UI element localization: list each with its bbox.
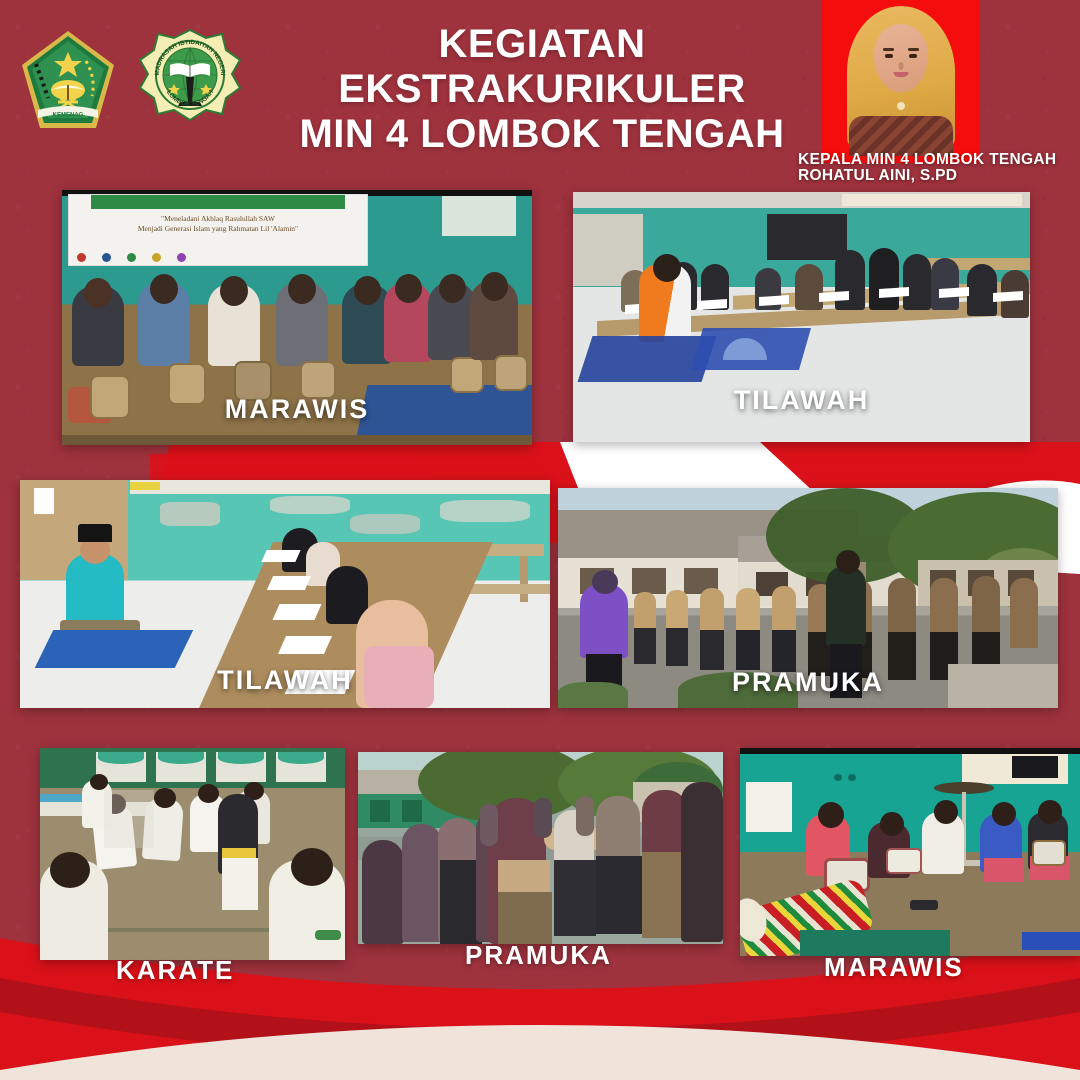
photo-pramuka-bottom[interactable] — [358, 752, 723, 944]
nose-icon — [899, 62, 904, 70]
face — [874, 24, 928, 92]
principal-name: ROHATUL AINI, S.PD — [798, 168, 1080, 184]
wave-label-karate: KARATE — [116, 955, 234, 986]
title-line-1: KEGIATAN — [268, 22, 816, 67]
kemenag-logo: KEMENAG — [18, 28, 118, 134]
title-line-2: EKSTRAKURIKULER — [268, 67, 816, 112]
batik-shirt — [849, 116, 953, 156]
photo-tilawah-mid[interactable]: TILAWAH — [20, 480, 550, 708]
principal-portrait — [822, 0, 980, 163]
wave-label-pramuka: PRAMUKA — [465, 940, 612, 971]
photo-label: TILAWAH — [20, 665, 550, 696]
madrasah-logo: MADRASAH IBTIDAIYAH NEGERI LOMBOK TENGAH — [136, 28, 244, 136]
instructor-purple — [580, 584, 628, 658]
banner-line-1: "Meneladani Akhlaq Rasulullah SAW — [75, 214, 361, 224]
brooch-icon — [897, 102, 905, 110]
photo-pramuka-mid[interactable]: PRAMUKA — [558, 488, 1058, 708]
scene — [358, 752, 723, 944]
photo-karate-bottom[interactable] — [40, 748, 345, 960]
photo-label: PRAMUKA — [558, 667, 1058, 698]
principal-caption: KEPALA MIN 4 LOMBOK TENGAH ROHATUL AINI,… — [798, 152, 1080, 185]
poster-root: KEMENAG MA — [0, 0, 1080, 1080]
eye-right-icon — [909, 54, 917, 58]
instructor-dark — [826, 566, 866, 646]
eyebrow-left-icon — [883, 48, 894, 51]
photo-label: TILAWAH — [573, 385, 1030, 416]
photo-marawis-bottom[interactable] — [740, 748, 1080, 956]
kemenag-logo-text: KEMENAG — [53, 113, 84, 119]
eye-left-icon — [885, 54, 893, 58]
eyebrow-right-icon — [908, 48, 919, 51]
portrait-figure — [847, 6, 955, 156]
photo-marawis-top[interactable]: "Meneladani Akhlaq Rasulullah SAW Menjad… — [62, 190, 532, 445]
page-title: KEGIATAN EKSTRAKURIKULER MIN 4 LOMBOK TE… — [268, 22, 816, 156]
banner-line-2: Menjadi Generasi Islam yang Rahmatan Lil… — [75, 224, 361, 234]
logo-group: KEMENAG MA — [18, 28, 244, 136]
mouth-icon — [894, 72, 909, 77]
scene — [740, 748, 1080, 956]
event-banner: "Meneladani Akhlaq Rasulullah SAW Menjad… — [68, 194, 368, 266]
wave-label-marawis: MARAWIS — [824, 952, 964, 983]
principal-role: KEPALA MIN 4 LOMBOK TENGAH — [798, 152, 1080, 168]
photo-tilawah-top[interactable]: TILAWAH — [573, 192, 1030, 442]
photo-label: MARAWIS — [62, 394, 532, 425]
title-line-3: MIN 4 LOMBOK TENGAH — [268, 112, 816, 157]
scene — [40, 748, 345, 960]
